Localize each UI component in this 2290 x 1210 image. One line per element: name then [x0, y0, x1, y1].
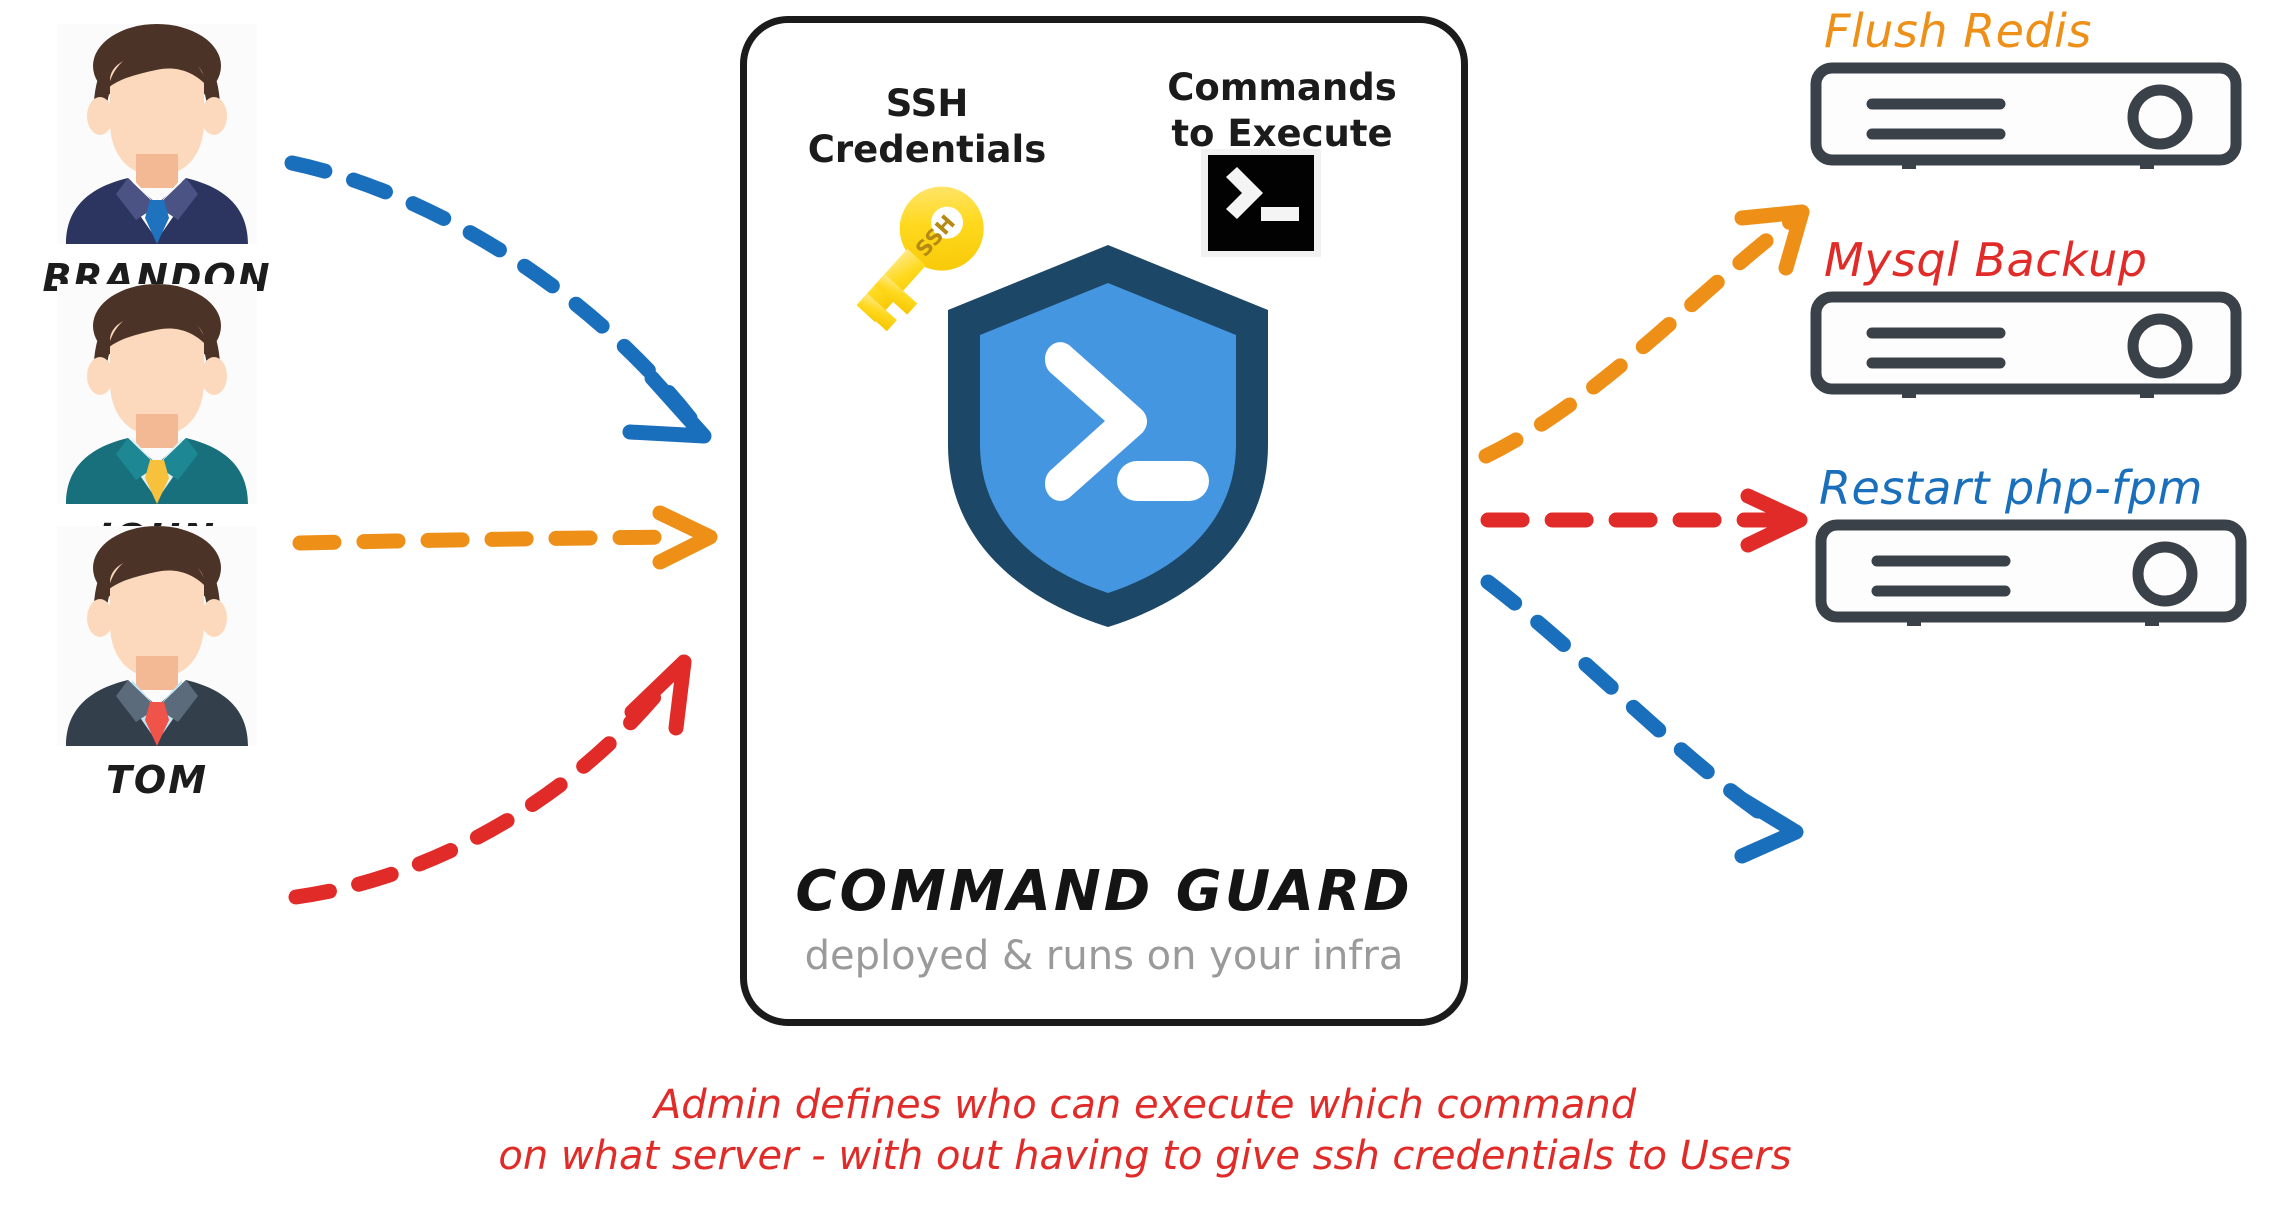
commands-label-line1: Commands — [1117, 65, 1447, 111]
avatar — [32, 264, 282, 514]
server-restart-php-fpm[interactable]: Restart php-fpm — [1805, 465, 2275, 629]
server-icon-wrap — [1810, 291, 2280, 401]
server-icon — [1810, 291, 2280, 401]
caption-line-2: on what server - with out having to give… — [0, 1131, 2290, 1182]
server-icon-wrap — [1810, 62, 2280, 172]
server-icon — [1810, 62, 2280, 172]
arrow-brandon-to-guard — [292, 163, 704, 436]
server-label: Mysql Backup — [1810, 237, 2280, 283]
user-brandon[interactable]: BRANDON — [22, 4, 292, 300]
arrow-guard-to-redis — [1486, 212, 1802, 456]
ssh-credentials-label-line2: Credentials — [777, 127, 1077, 173]
commands-to-execute-label: Commands to Execute — [1117, 65, 1447, 158]
server-label: Flush Redis — [1810, 8, 2280, 54]
page-title: COMMAND GUARD — [747, 859, 1461, 924]
diagram-canvas: BRANDON JOHN — [0, 0, 2290, 1210]
shield-terminal-icon-wrap — [927, 235, 1289, 635]
arrow-guard-to-phpfpm — [1488, 582, 1796, 856]
user-avatar-icon — [32, 4, 282, 254]
arrow-john-to-guard — [300, 513, 710, 562]
command-guard-card[interactable]: SSH Credentials — [740, 16, 1468, 1026]
server-icon — [1805, 519, 2285, 629]
server-mysql-backup[interactable]: Mysql Backup — [1810, 237, 2280, 401]
arrow-guard-to-mysql — [1488, 496, 1800, 545]
user-avatar-icon — [32, 264, 282, 514]
server-label: Restart php-fpm — [1805, 465, 2275, 511]
caption-line-1: Admin defines who can execute which comm… — [0, 1080, 2290, 1131]
server-icon-wrap — [1805, 519, 2275, 629]
server-flush-redis[interactable]: Flush Redis — [1810, 8, 2280, 172]
user-name-label: TOM — [22, 758, 292, 802]
brand-subtitle: deployed & runs on your infra — [747, 933, 1461, 979]
ssh-credentials-label: SSH Credentials — [777, 81, 1077, 174]
arrow-tom-to-guard — [296, 662, 684, 897]
user-avatar-icon — [32, 506, 282, 756]
avatar — [32, 506, 282, 756]
ssh-credentials-label-line1: SSH — [777, 81, 1077, 127]
caption: Admin defines who can execute which comm… — [0, 1080, 2290, 1182]
avatar — [32, 4, 282, 254]
user-tom[interactable]: TOM — [22, 506, 292, 802]
shield-terminal-icon — [927, 235, 1289, 635]
